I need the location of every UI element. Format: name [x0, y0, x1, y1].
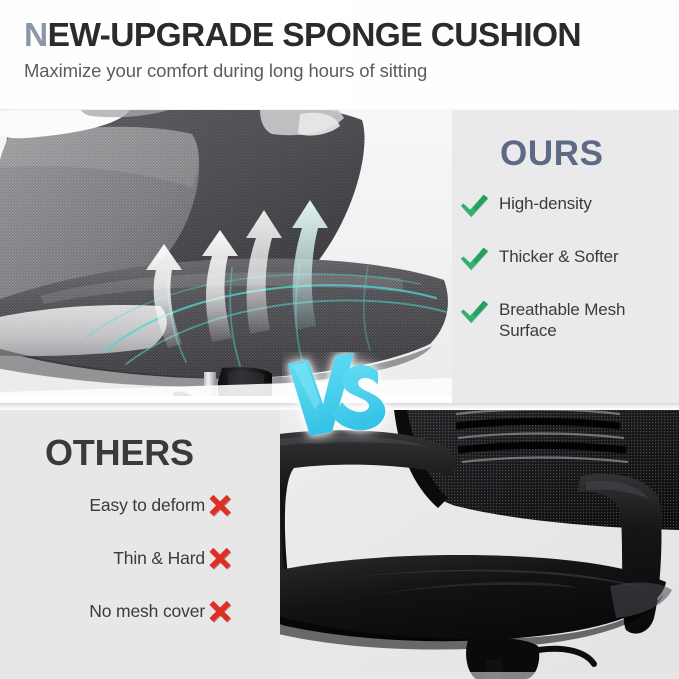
others-feature-list: Easy to deform [0, 492, 250, 651]
ours-chair-photo [0, 110, 452, 405]
others-chair-photo [280, 410, 679, 679]
page-title-rest: EW-UPGRADE SPONGE CUSHION [48, 17, 581, 54]
ours-heading: OURS [500, 134, 604, 174]
header: NEW-UPGRADE SPONGE CUSHION Maximize your… [0, 0, 679, 110]
others-panel: OTHERS Easy to deform [0, 410, 679, 679]
cross-icon [207, 598, 234, 625]
list-item: Thin & Hard [0, 545, 250, 572]
list-item: No mesh cover [0, 598, 250, 625]
ours-chair-illustration [0, 110, 452, 405]
list-item-label: No mesh cover [89, 601, 205, 622]
others-content: OTHERS Easy to deform [0, 410, 290, 679]
list-item: High-density [452, 193, 679, 220]
page-subtitle: Maximize your comfort during long hours … [24, 60, 679, 82]
list-item-label: High-density [499, 193, 592, 215]
others-chair-illustration [280, 410, 679, 679]
check-icon [460, 245, 490, 273]
list-item: Breathable Mesh Surface [452, 299, 679, 342]
panel-divider [0, 403, 679, 410]
list-item-label: Easy to deform [89, 495, 205, 516]
infographic-page: NEW-UPGRADE SPONGE CUSHION Maximize your… [0, 0, 679, 679]
ours-content: OURS High-density [452, 110, 679, 405]
ours-panel: OURS High-density [0, 110, 679, 405]
page-title-lead-letter: N [24, 17, 48, 54]
page-title: NEW-UPGRADE SPONGE CUSHION [24, 18, 679, 53]
list-item-label: Thin & Hard [113, 548, 205, 569]
cross-icon [207, 545, 234, 572]
list-item: Thicker & Softer [452, 246, 679, 273]
list-item: Easy to deform [0, 492, 250, 519]
list-item-label: Breathable Mesh Surface [499, 299, 649, 342]
cross-icon [207, 492, 234, 519]
check-icon [460, 192, 490, 220]
list-item-label: Thicker & Softer [499, 246, 618, 268]
check-icon [460, 298, 490, 326]
ours-feature-list: High-density Thicker & Softer [452, 193, 679, 368]
others-heading: OTHERS [45, 432, 194, 474]
